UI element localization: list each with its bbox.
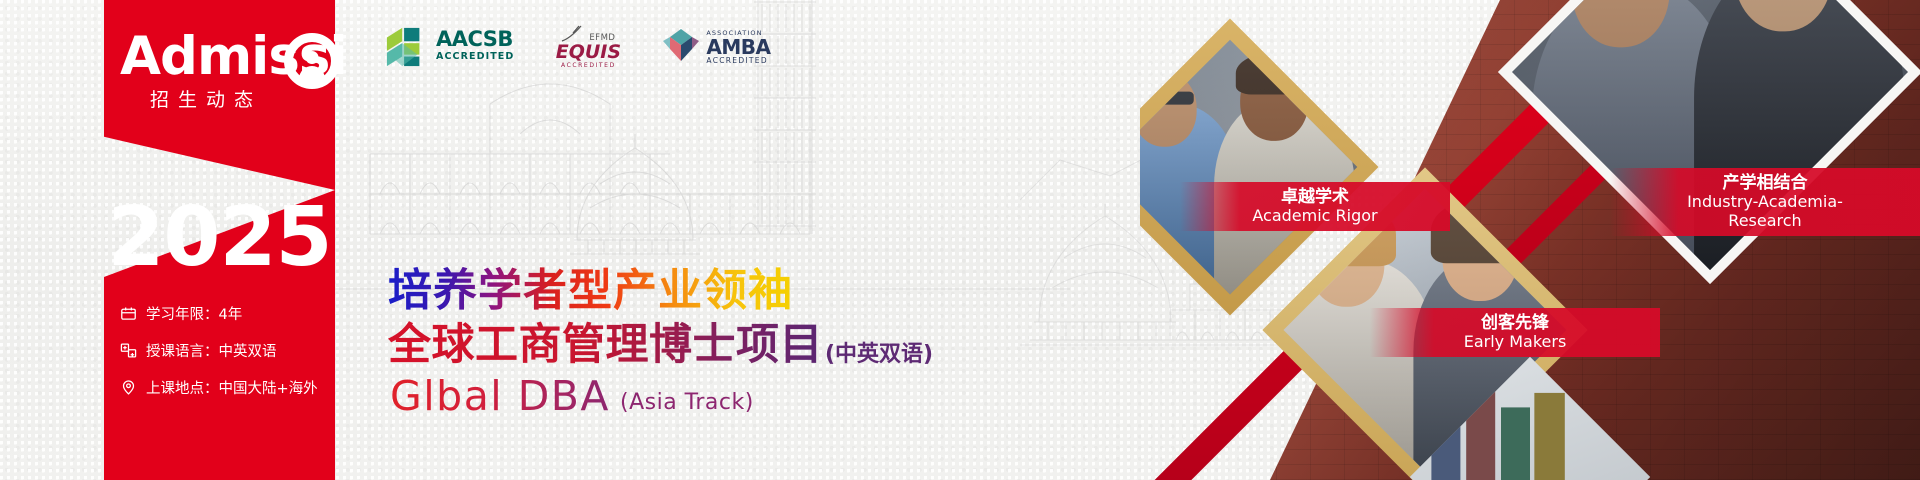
tagline-gradient-text: 培养学者型产业领袖 [388,254,793,318]
photo-montage: 产学相结合 Industry-Academia- Research 卓越学术 A… [1140,0,1920,480]
info-text-location: 上课地点：中国大陆+海外 [146,377,318,398]
amba-subtitle: ACCREDITED [706,57,770,65]
location-pin-icon [120,379,137,396]
program-name-en-row: Glbal DBA (Asia Track) [390,372,754,420]
person-in-circle-icon [284,33,340,89]
info-row-duration: 学习年限：4年 [120,295,340,332]
program-name-cn-row: 全球工商管理博士项目 (中英双语) [388,310,933,372]
feature-en-academic: Academic Rigor [1192,207,1438,226]
feature-cn-academic: 卓越学术 [1192,187,1438,207]
aacsb-logo: AACSB ACCREDITED [385,26,514,68]
brand-lockup: Admissi 招生动态 [120,30,350,120]
feature-label-industry: 产学相结合 Industry-Academia- Research [1610,168,1920,236]
accreditation-logo-row: AACSB ACCREDITED EFMD EQUIS ACCREDITED [385,25,771,69]
amba-title: AMBA [706,37,770,57]
left-red-panel: Admissi 招生动态 2025 学习年限：4年 [0,0,335,480]
feature-en-makers: Early Makers [1382,333,1648,352]
info-row-location: 上课地点：中国大陆+海外 [120,369,340,406]
program-track-label: (Asia Track) [620,390,754,420]
amba-logo: ASSOCIATION AMBA ACCREDITED [662,28,770,67]
program-name-cn: 全球工商管理博士项目 [388,310,823,372]
feature-label-academic: 卓越学术 Academic Rigor [1180,182,1450,231]
program-name-cn-suffix: (中英双语) [825,336,933,372]
feature-en-industry-line2: Research [1622,212,1908,231]
equis-logo: EFMD EQUIS ACCREDITED [552,25,624,69]
feature-en-industry-line1: Industry-Academia- [1622,193,1908,212]
amba-diamond-icon [662,28,700,67]
equis-title: EQUIS [552,43,624,62]
program-name-en: Glbal DBA [390,372,610,420]
program-info-list: 学习年限：4年 授课语言：中英双语 [120,295,340,406]
language-icon [120,342,137,359]
aacsb-title: AACSB [436,29,514,50]
feature-cn-makers: 创客先锋 [1382,313,1648,333]
admission-banner: Admissi 招生动态 2025 学习年限：4年 [0,0,1920,480]
info-row-language: 授课语言：中英双语 [120,332,340,369]
equis-subtitle: ACCREDITED [552,62,624,69]
info-text-language: 授课语言：中英双语 [146,340,277,361]
brand-chinese-text: 招生动态 [150,85,262,112]
year-label: 2025 [104,190,335,285]
calendar-icon [120,305,137,322]
feature-label-makers: 创客先锋 Early Makers [1370,308,1660,357]
feature-cn-industry: 产学相结合 [1622,173,1908,193]
info-text-duration: 学习年限：4年 [146,303,242,324]
aacsb-mark-icon [385,26,427,68]
aacsb-subtitle: ACCREDITED [436,50,514,64]
